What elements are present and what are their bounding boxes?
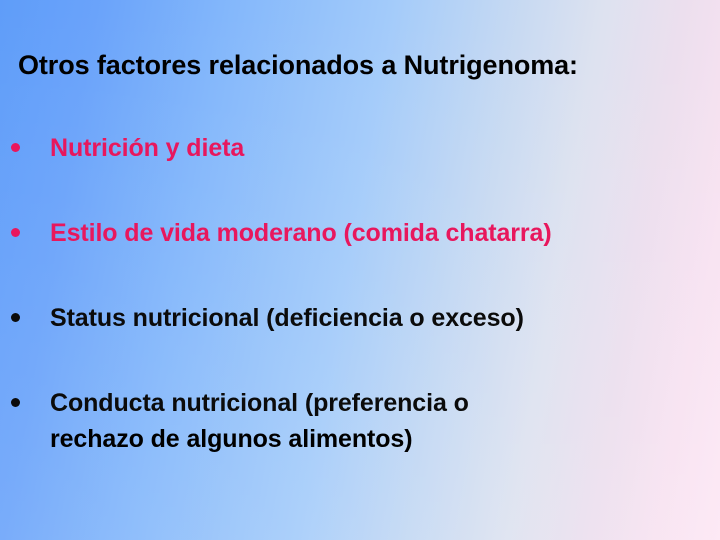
list-item: Estilo de vida moderano (comida chatarra… [0,215,720,251]
bullet-dot-icon [11,228,20,237]
bullet-dot-icon [11,398,20,407]
list-item: Nutrición y dieta [0,130,720,166]
slide-content: Otros factores relacionados a Nutrigenom… [0,0,720,540]
bullet-dot-icon [11,313,20,322]
presentation-slide: Otros factores relacionados a Nutrigenom… [0,0,720,540]
list-item-label: Status nutricional (deficiencia o exceso… [50,300,720,336]
list-item: Conducta nutricional (preferencia o rech… [0,385,720,457]
list-item-label: Estilo de vida moderano (comida chatarra… [50,215,720,251]
list-item-label: Nutrición y dieta [50,130,720,166]
list-item-label-continuation: rechazo de algunos alimentos) [50,421,720,457]
bullet-dot-icon [11,143,20,152]
slide-title: Otros factores relacionados a Nutrigenom… [18,50,578,81]
list-item: Status nutricional (deficiencia o exceso… [0,300,720,336]
list-item-label: Conducta nutricional (preferencia o [50,385,720,421]
bullet-list: Nutrición y dieta Estilo de vida moderan… [0,130,720,457]
